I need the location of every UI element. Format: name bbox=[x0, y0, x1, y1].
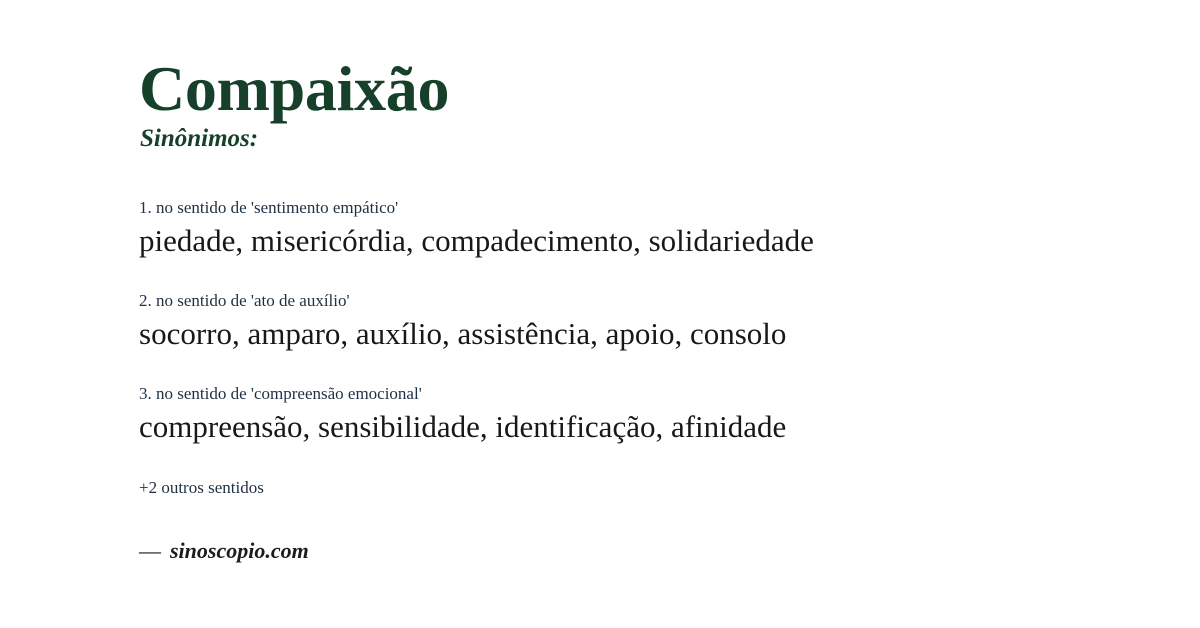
sense-synonyms-1: piedade, misericórdia, compadecimento, s… bbox=[139, 222, 1140, 260]
synonym-card: Compaixão Sinônimos: 1. no sentido de 's… bbox=[0, 0, 1200, 628]
subtitle-synonyms: Sinônimos: bbox=[140, 125, 1140, 153]
em-dash-icon: — bbox=[139, 540, 161, 562]
sense-block-2: 2. no sentido de 'ato de auxílio' socorr… bbox=[139, 290, 1140, 353]
more-senses-note: +2 outros sentidos bbox=[139, 478, 1140, 498]
card-header: Compaixão Sinônimos: bbox=[139, 0, 1140, 153]
sense-block-3: 3. no sentido de 'compreensão emocional'… bbox=[139, 383, 1140, 446]
sense-label-2: 2. no sentido de 'ato de auxílio' bbox=[139, 290, 1140, 311]
sense-label-1: 1. no sentido de 'sentimento empático' bbox=[139, 197, 1140, 218]
sense-synonyms-3: compreensão, sensibilidade, identificaçã… bbox=[139, 408, 1140, 446]
sense-label-3: 3. no sentido de 'compreensão emocional' bbox=[139, 383, 1140, 404]
sense-synonyms-2: socorro, amparo, auxílio, assistência, a… bbox=[139, 315, 1140, 353]
page-title: Compaixão bbox=[139, 56, 1140, 121]
senses-list: 1. no sentido de 'sentimento empático' p… bbox=[139, 197, 1140, 446]
sense-block-1: 1. no sentido de 'sentimento empático' p… bbox=[139, 197, 1140, 260]
card-footer: — sinoscopio.com bbox=[139, 540, 1140, 562]
source-attribution: sinoscopio.com bbox=[170, 540, 309, 562]
